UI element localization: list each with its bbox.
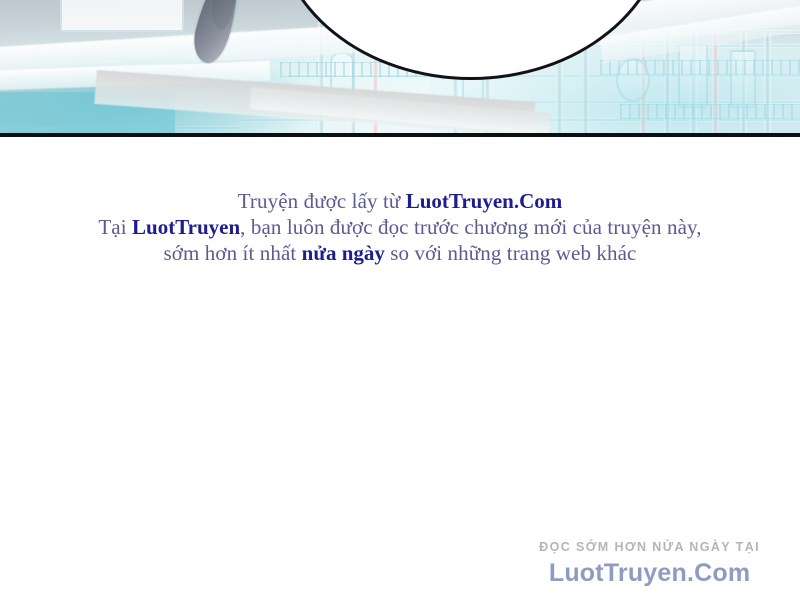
watermark: ĐỌC SỚM HƠN NỬA NGÀY TẠI LuotTruyen.Com bbox=[539, 540, 760, 588]
credit-line-2-brand: LuotTruyen bbox=[132, 215, 240, 239]
panel-window-shape bbox=[60, 0, 184, 32]
credit-line-3-prefix: sớm hơn ít nhất bbox=[164, 241, 302, 265]
credit-line-1-prefix: Truyện được lấy từ bbox=[238, 189, 406, 213]
credit-line-3-suffix: so với những trang web khác bbox=[385, 241, 637, 265]
credit-line-3: sớm hơn ít nhất nửa ngày so với những tr… bbox=[0, 240, 800, 266]
watermark-brand: LuotTruyen.Com bbox=[539, 559, 760, 588]
credit-block: Truyện được lấy từ LuotTruyen.Com Tại Lu… bbox=[0, 188, 800, 266]
credit-line-1: Truyện được lấy từ LuotTruyen.Com bbox=[0, 188, 800, 214]
credit-line-2-prefix: Tại bbox=[98, 215, 132, 239]
comic-panel bbox=[0, 0, 800, 137]
credit-line-3-emphasis: nửa ngày bbox=[302, 241, 385, 265]
watermark-tagline: ĐỌC SỚM HƠN NỬA NGÀY TẠI bbox=[539, 540, 760, 554]
credit-line-2-suffix: , bạn luôn được đọc trước chương mới của… bbox=[240, 215, 701, 239]
credit-line-2: Tại LuotTruyen, bạn luôn được đọc trước … bbox=[0, 214, 800, 240]
page-root: Truyện được lấy từ LuotTruyen.Com Tại Lu… bbox=[0, 0, 800, 600]
credit-line-1-brand: LuotTruyen.Com bbox=[406, 189, 563, 213]
